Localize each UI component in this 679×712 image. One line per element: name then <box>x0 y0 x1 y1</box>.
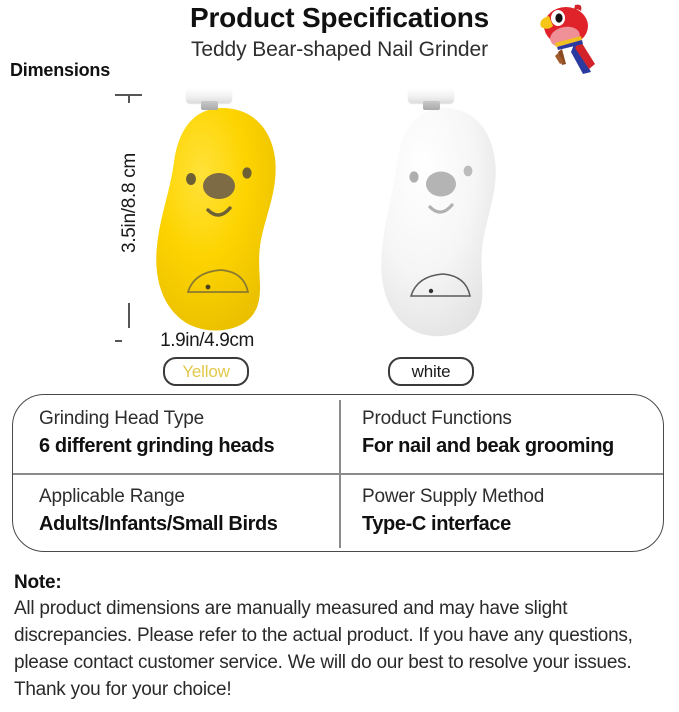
height-dimension-value: 3.5in/8.8 cm <box>115 103 145 303</box>
spec-cell-power-supply-method: Power Supply Method Type-C interface <box>338 473 663 551</box>
note-title: Note: <box>14 572 670 594</box>
color-badge-white[interactable]: white <box>388 357 474 386</box>
device-body-white <box>372 106 524 334</box>
height-measure-tick-top <box>115 94 142 96</box>
specifications-table: Grinding Head Type 6 different grinding … <box>12 394 664 552</box>
device-body-yellow <box>148 106 300 334</box>
color-badge-yellow[interactable]: Yellow <box>163 357 249 386</box>
cap-neck-icon <box>423 101 440 110</box>
spec-value: 6 different grinding heads <box>39 433 338 460</box>
spec-label: Grinding Head Type <box>39 407 338 432</box>
spec-value: Type-C interface <box>362 511 663 538</box>
spec-value: Adults/Infants/Small Birds <box>39 511 338 538</box>
height-dimension-measure: 3.5in/8.8 cm <box>110 94 150 342</box>
product-image-yellow <box>148 88 300 340</box>
spec-cell-applicable-range: Applicable Range Adults/Infants/Small Bi… <box>13 473 338 551</box>
spec-label: Applicable Range <box>39 485 338 510</box>
parrot-icon <box>531 2 601 76</box>
product-image-white <box>372 88 522 348</box>
spec-cell-product-functions: Product Functions For nail and beak groo… <box>338 395 663 473</box>
spec-label: Power Supply Method <box>362 485 663 510</box>
spec-value: For nail and beak grooming <box>362 433 663 460</box>
cap-neck-icon <box>201 101 218 110</box>
note-section: Note: All product dimensions are manuall… <box>14 572 670 704</box>
note-body: All product dimensions are manually meas… <box>14 596 670 704</box>
spec-cell-grinding-head-type: Grinding Head Type 6 different grinding … <box>13 395 338 473</box>
dimensions-label: Dimensions <box>10 60 110 81</box>
table-horizontal-divider <box>13 473 664 475</box>
spec-label: Product Functions <box>362 407 663 432</box>
